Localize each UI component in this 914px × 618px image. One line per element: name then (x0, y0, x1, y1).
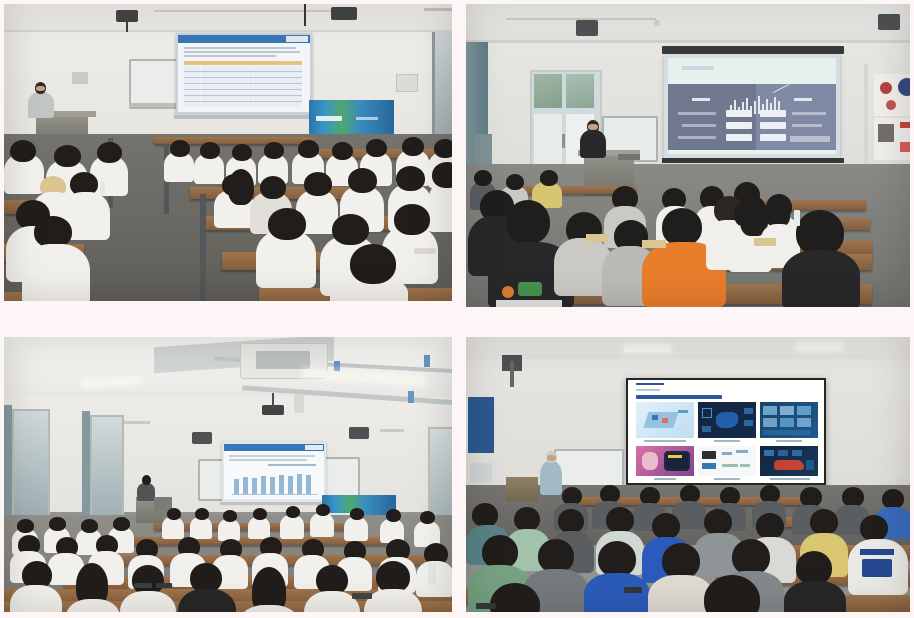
window-left (12, 409, 50, 523)
slide-content (668, 58, 836, 154)
student-head (386, 509, 401, 522)
student-head (10, 140, 36, 162)
student-body (22, 244, 90, 301)
poster-text (900, 122, 910, 128)
panel-caption (654, 478, 676, 480)
student-head (394, 204, 430, 235)
student-body (248, 517, 270, 539)
student-body (784, 581, 846, 612)
photo-top-left[interactable] (4, 4, 452, 301)
ceiling-light (796, 343, 842, 350)
student-head (350, 244, 396, 284)
wall-panel (72, 72, 88, 84)
window-frame (432, 32, 435, 142)
ceiling-speaker-right (878, 14, 900, 30)
ceiling-beam (466, 40, 910, 43)
student-head (606, 507, 634, 533)
wall-sensor (294, 395, 304, 413)
wall-edge (864, 64, 868, 164)
speaker-face (36, 86, 45, 91)
ceiling-rail (154, 10, 334, 12)
student-body (10, 585, 62, 612)
panel-caption (776, 440, 802, 442)
student-head (260, 176, 286, 199)
notebook (586, 234, 608, 242)
student-body (428, 182, 452, 232)
speaker-body (137, 483, 155, 501)
wall-vent (396, 74, 418, 92)
student-head (348, 168, 377, 193)
slide-row-label (678, 136, 716, 139)
student-head (350, 508, 364, 520)
notebook (642, 240, 666, 248)
student-head (17, 519, 34, 533)
ceiling-fan-blade (124, 421, 150, 424)
slide-table-rule (184, 89, 302, 90)
student-head (264, 142, 284, 159)
classroom-scene-3 (4, 337, 452, 612)
student-head (704, 509, 732, 535)
student-body (162, 517, 184, 539)
phone-on-desk (624, 587, 642, 593)
aisle-rail (200, 194, 206, 301)
slide-text-line (229, 455, 315, 457)
student-body (190, 517, 212, 539)
presenter-face (588, 124, 598, 130)
slide-bar-chart (234, 470, 318, 494)
student-head (167, 508, 181, 520)
student-head (97, 142, 122, 163)
student-head (286, 506, 300, 518)
student-head (402, 137, 424, 156)
student-head (662, 543, 700, 579)
student-head (232, 144, 252, 161)
water-bottle (100, 182, 105, 196)
student-head (332, 214, 369, 245)
student-head (332, 142, 353, 160)
smoke-detector (654, 20, 660, 26)
photo-bottom-right[interactable] (466, 337, 910, 612)
slide-content (178, 35, 310, 112)
ceiling-fan-blade (380, 429, 404, 432)
slide-table-rule (184, 77, 302, 78)
classroom-scene-2 (466, 4, 910, 307)
student-body (218, 519, 240, 541)
student-head (598, 541, 636, 577)
poster-badge (900, 142, 910, 152)
slide-text-line (184, 51, 300, 53)
projector-left (116, 10, 138, 22)
wall-poster-blue (468, 397, 494, 453)
student-head (54, 145, 81, 167)
slide-row-label (792, 112, 826, 115)
ceiling (466, 337, 910, 359)
screen-frame-bottom (174, 115, 314, 119)
student-body (310, 513, 334, 537)
glasses-on-desk (134, 583, 152, 588)
jersey-text (860, 549, 894, 555)
panel-caption (714, 440, 740, 442)
slide-row-label (682, 124, 716, 127)
slide-chip (726, 134, 752, 141)
panel-caption (714, 478, 740, 480)
slide-row-label (790, 136, 830, 142)
window-right (428, 427, 452, 519)
panel-caption (644, 440, 686, 442)
student-head (298, 140, 319, 158)
slide-chip (726, 110, 752, 117)
phone-on-desk (476, 603, 496, 609)
projector-right (331, 7, 357, 20)
whiteboard-right (324, 457, 360, 499)
slide-column-label-right (794, 98, 812, 101)
projection-screen (222, 442, 326, 502)
banner-wordmark (316, 116, 342, 121)
phone-on-desk (156, 583, 172, 588)
student-head (860, 515, 888, 541)
poster-graphic-red (880, 82, 892, 94)
ceiling-speaker-right (349, 427, 369, 439)
window-pane (534, 74, 562, 108)
window-right (434, 32, 452, 142)
hoodie-text-dragonball (496, 300, 562, 307)
led-display (626, 378, 826, 485)
student-head (49, 517, 66, 531)
phone-on-desk (352, 593, 372, 599)
student-head (558, 509, 584, 533)
student-head (540, 170, 558, 186)
student-body (344, 517, 368, 541)
poster-graphic-red2 (886, 100, 896, 110)
student-head (223, 510, 237, 522)
student-head (304, 172, 332, 196)
speaker-mount (510, 361, 514, 387)
photo-collage (0, 0, 914, 618)
student-head (268, 208, 306, 240)
slide-chip (760, 134, 786, 141)
podium (506, 477, 538, 501)
student-head (506, 174, 524, 190)
slide-column-label-left (692, 98, 710, 101)
slide-text-line (229, 459, 307, 461)
slide-text-line (184, 47, 296, 49)
screen-frame-bottom (220, 502, 328, 505)
slide-table-rule (184, 71, 302, 72)
hoodie-graphic (502, 286, 514, 298)
student-head (732, 539, 770, 575)
phone-on-desk (414, 248, 436, 254)
slide-chip (760, 122, 786, 129)
speaker-body (28, 92, 54, 118)
slide-logo (286, 36, 308, 42)
student-head (514, 507, 540, 531)
student-head (796, 551, 832, 585)
ceiling-light (624, 345, 670, 352)
pipe-bracket (424, 355, 430, 367)
ceiling-seam (4, 30, 452, 32)
student-head (253, 508, 267, 520)
panel-video-wall-dashboard (760, 402, 818, 438)
student-head (756, 513, 784, 539)
student-head (195, 508, 209, 520)
screen-roller-case (662, 46, 844, 54)
ceiling-fan-blade (424, 8, 452, 11)
panel-flow-diagram (698, 446, 756, 476)
photo-bottom-left[interactable] (4, 337, 452, 612)
student-head (396, 166, 425, 191)
slide-breadcrumb (636, 389, 660, 391)
speaker-body (540, 461, 562, 495)
panel-network-map-dashboard (698, 402, 756, 438)
classroom-scene-1 (4, 4, 452, 301)
speaker-face (547, 455, 556, 461)
student-body (280, 515, 304, 539)
student-body (782, 250, 860, 307)
student-head (652, 513, 680, 539)
student-head (538, 539, 574, 573)
student-head (842, 487, 864, 507)
jersey-number (862, 559, 892, 577)
banner-subtext (356, 117, 378, 120)
water-bottle (428, 563, 436, 585)
student-head-long (228, 169, 254, 205)
window-pane (566, 74, 594, 108)
slide-table-rule (184, 101, 302, 102)
window-left-2 (90, 415, 124, 519)
slide-table-header (184, 61, 302, 65)
slide-accent-rule (636, 383, 664, 385)
student-head (432, 162, 452, 188)
student-head (316, 504, 330, 516)
wall-box (470, 463, 492, 483)
projector-mount (272, 393, 274, 407)
presenter-body (580, 130, 606, 158)
slide-row-label (792, 124, 822, 127)
student-head (113, 517, 130, 531)
slide-title-text (682, 66, 714, 70)
panel-person-with-magnifier (636, 446, 694, 476)
slide-chip (760, 110, 786, 117)
slide-text-line (184, 55, 276, 57)
poster-photo (878, 124, 894, 142)
slide-content (224, 444, 324, 499)
projection-screen (664, 54, 840, 158)
student-head (800, 487, 822, 507)
slide-row-label (678, 112, 716, 115)
panel-caption (770, 478, 810, 480)
slide-legend (268, 464, 316, 466)
water-bottle (794, 210, 800, 226)
slide-chip (726, 122, 752, 129)
screen-bottom-bar (662, 158, 844, 163)
student-head (482, 535, 518, 569)
student-head (882, 489, 904, 509)
display-content (628, 380, 824, 483)
slide-table-rule (184, 83, 302, 84)
student-head (810, 509, 838, 535)
ceiling-speaker-left (576, 20, 598, 36)
photo-top-right[interactable] (466, 4, 910, 307)
curtain (4, 405, 12, 523)
student-head (434, 139, 452, 158)
ceiling-speaker-left (192, 432, 212, 444)
student-head (472, 503, 498, 527)
equipment-cart (618, 154, 640, 160)
student-head (474, 170, 492, 186)
slide-chart-axis (232, 494, 318, 495)
student-head (506, 200, 550, 244)
projection-screen (176, 33, 312, 115)
projector-cable-left (126, 22, 128, 32)
student-head (200, 142, 220, 159)
slide-title-text (636, 395, 722, 399)
ac-grille (256, 351, 310, 369)
curtain (82, 411, 90, 519)
student-head (662, 208, 702, 246)
projector-cable-right (304, 4, 306, 26)
slide-logo (305, 445, 323, 450)
student-head (366, 139, 387, 157)
slide-table-rule (184, 95, 302, 96)
pipe-bracket (408, 391, 414, 403)
panel-circuit-illustration (636, 402, 694, 438)
student-head (170, 140, 190, 157)
speaker-head (142, 475, 151, 485)
panel-vehicle-dashboard (760, 446, 818, 476)
student-head (81, 519, 98, 533)
classroom-scene-4 (466, 337, 910, 612)
poster-graphic-blue (898, 78, 910, 96)
hoodie-graphic-green (518, 282, 542, 296)
ceiling (4, 4, 452, 30)
door-handle (562, 134, 565, 148)
notebook (754, 238, 776, 246)
student-head (420, 511, 435, 524)
ceiling (466, 4, 910, 40)
whiteboard (554, 449, 624, 487)
